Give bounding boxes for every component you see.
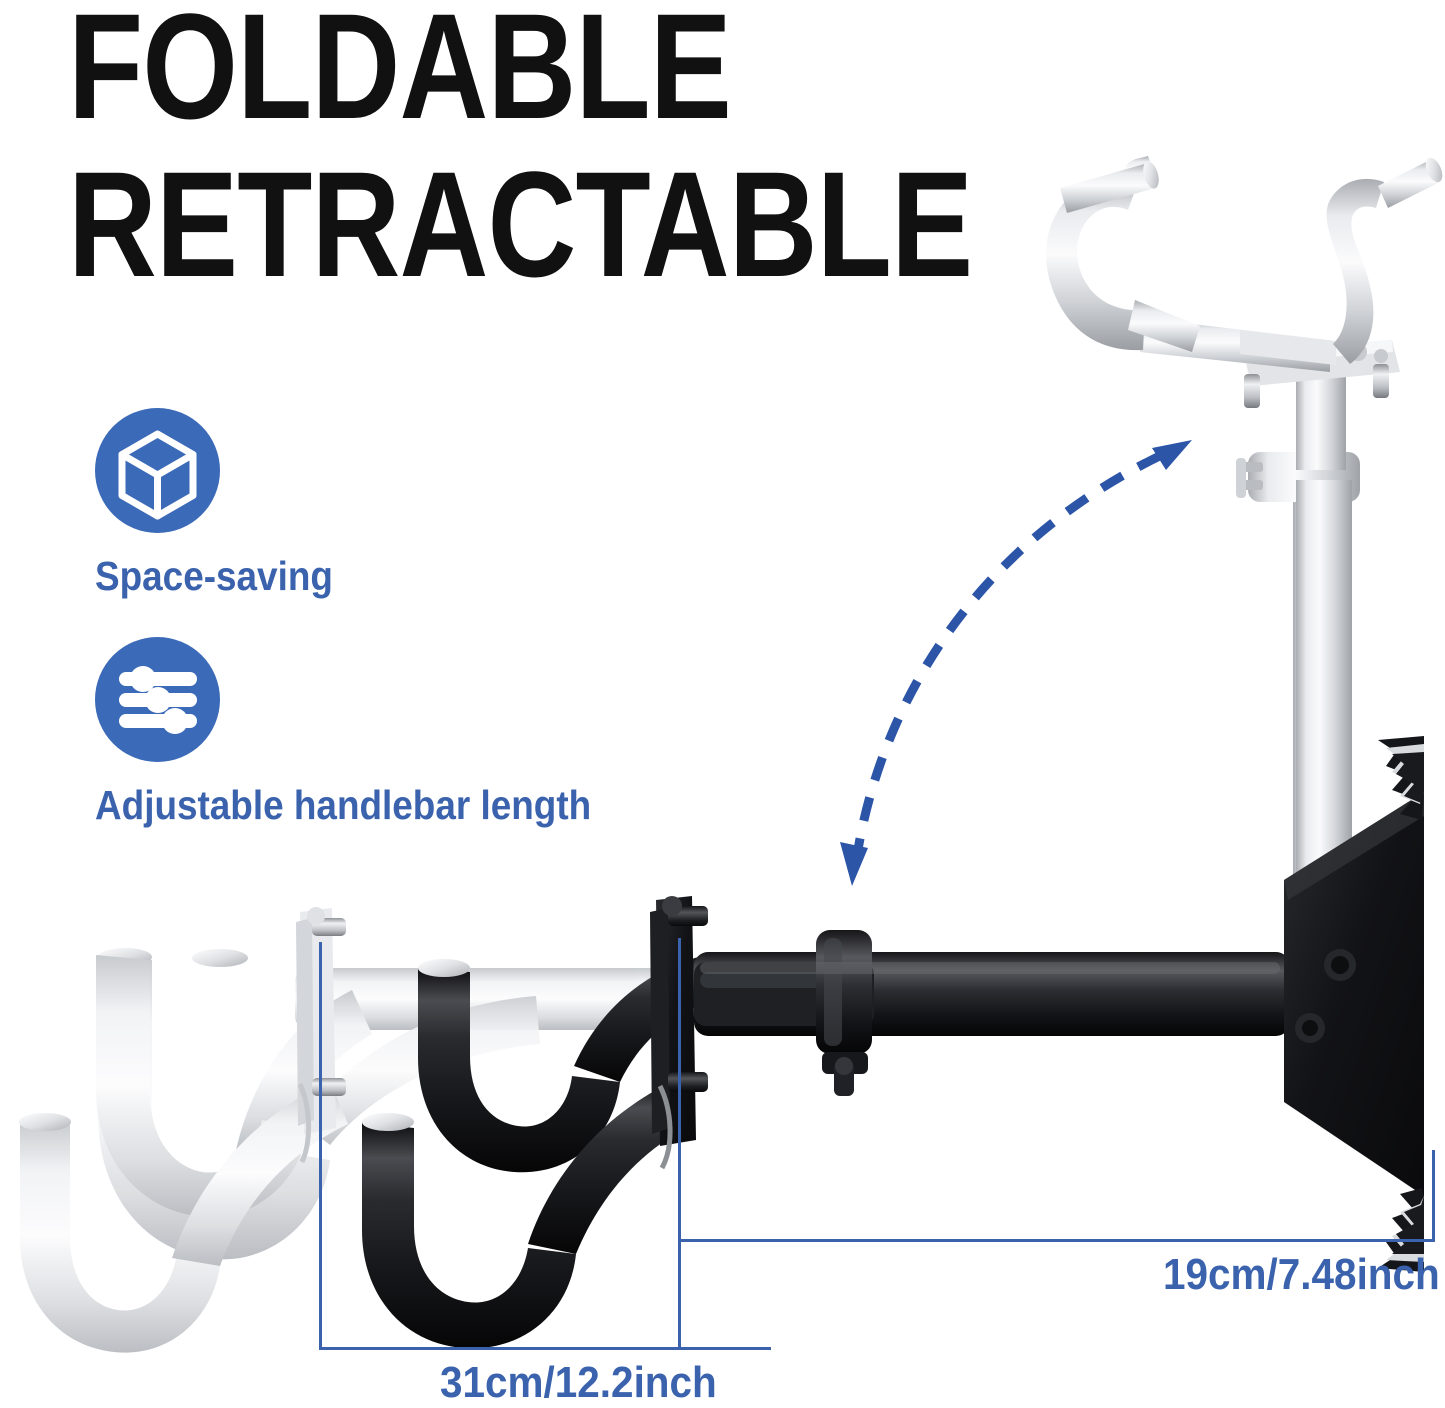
dimension-width-baseline	[319, 1347, 771, 1350]
dimension-depth-baseline	[678, 1239, 1435, 1242]
telescope-clamp	[816, 930, 872, 1096]
dimension-depth-right-tick	[1432, 1150, 1435, 1242]
dimension-width-right-tick	[678, 938, 681, 1350]
fold-arrow-icon	[840, 440, 1192, 886]
product-illustration	[0, 0, 1445, 1406]
upper-left-hook	[1036, 156, 1200, 352]
dimension-depth-label: 19cm/7.48inch	[1163, 1250, 1440, 1300]
dimension-depth-left-tick	[678, 1180, 681, 1242]
upper-handlebar-assembly	[1036, 155, 1445, 900]
retracted-handlebar-black	[362, 896, 1290, 1348]
wall-mount-bracket	[1284, 480, 1424, 1272]
dimension-width-left-tick	[319, 942, 322, 1350]
upper-right-hook	[1327, 155, 1445, 364]
dimension-width-label: 31cm/12.2inch	[440, 1358, 717, 1408]
